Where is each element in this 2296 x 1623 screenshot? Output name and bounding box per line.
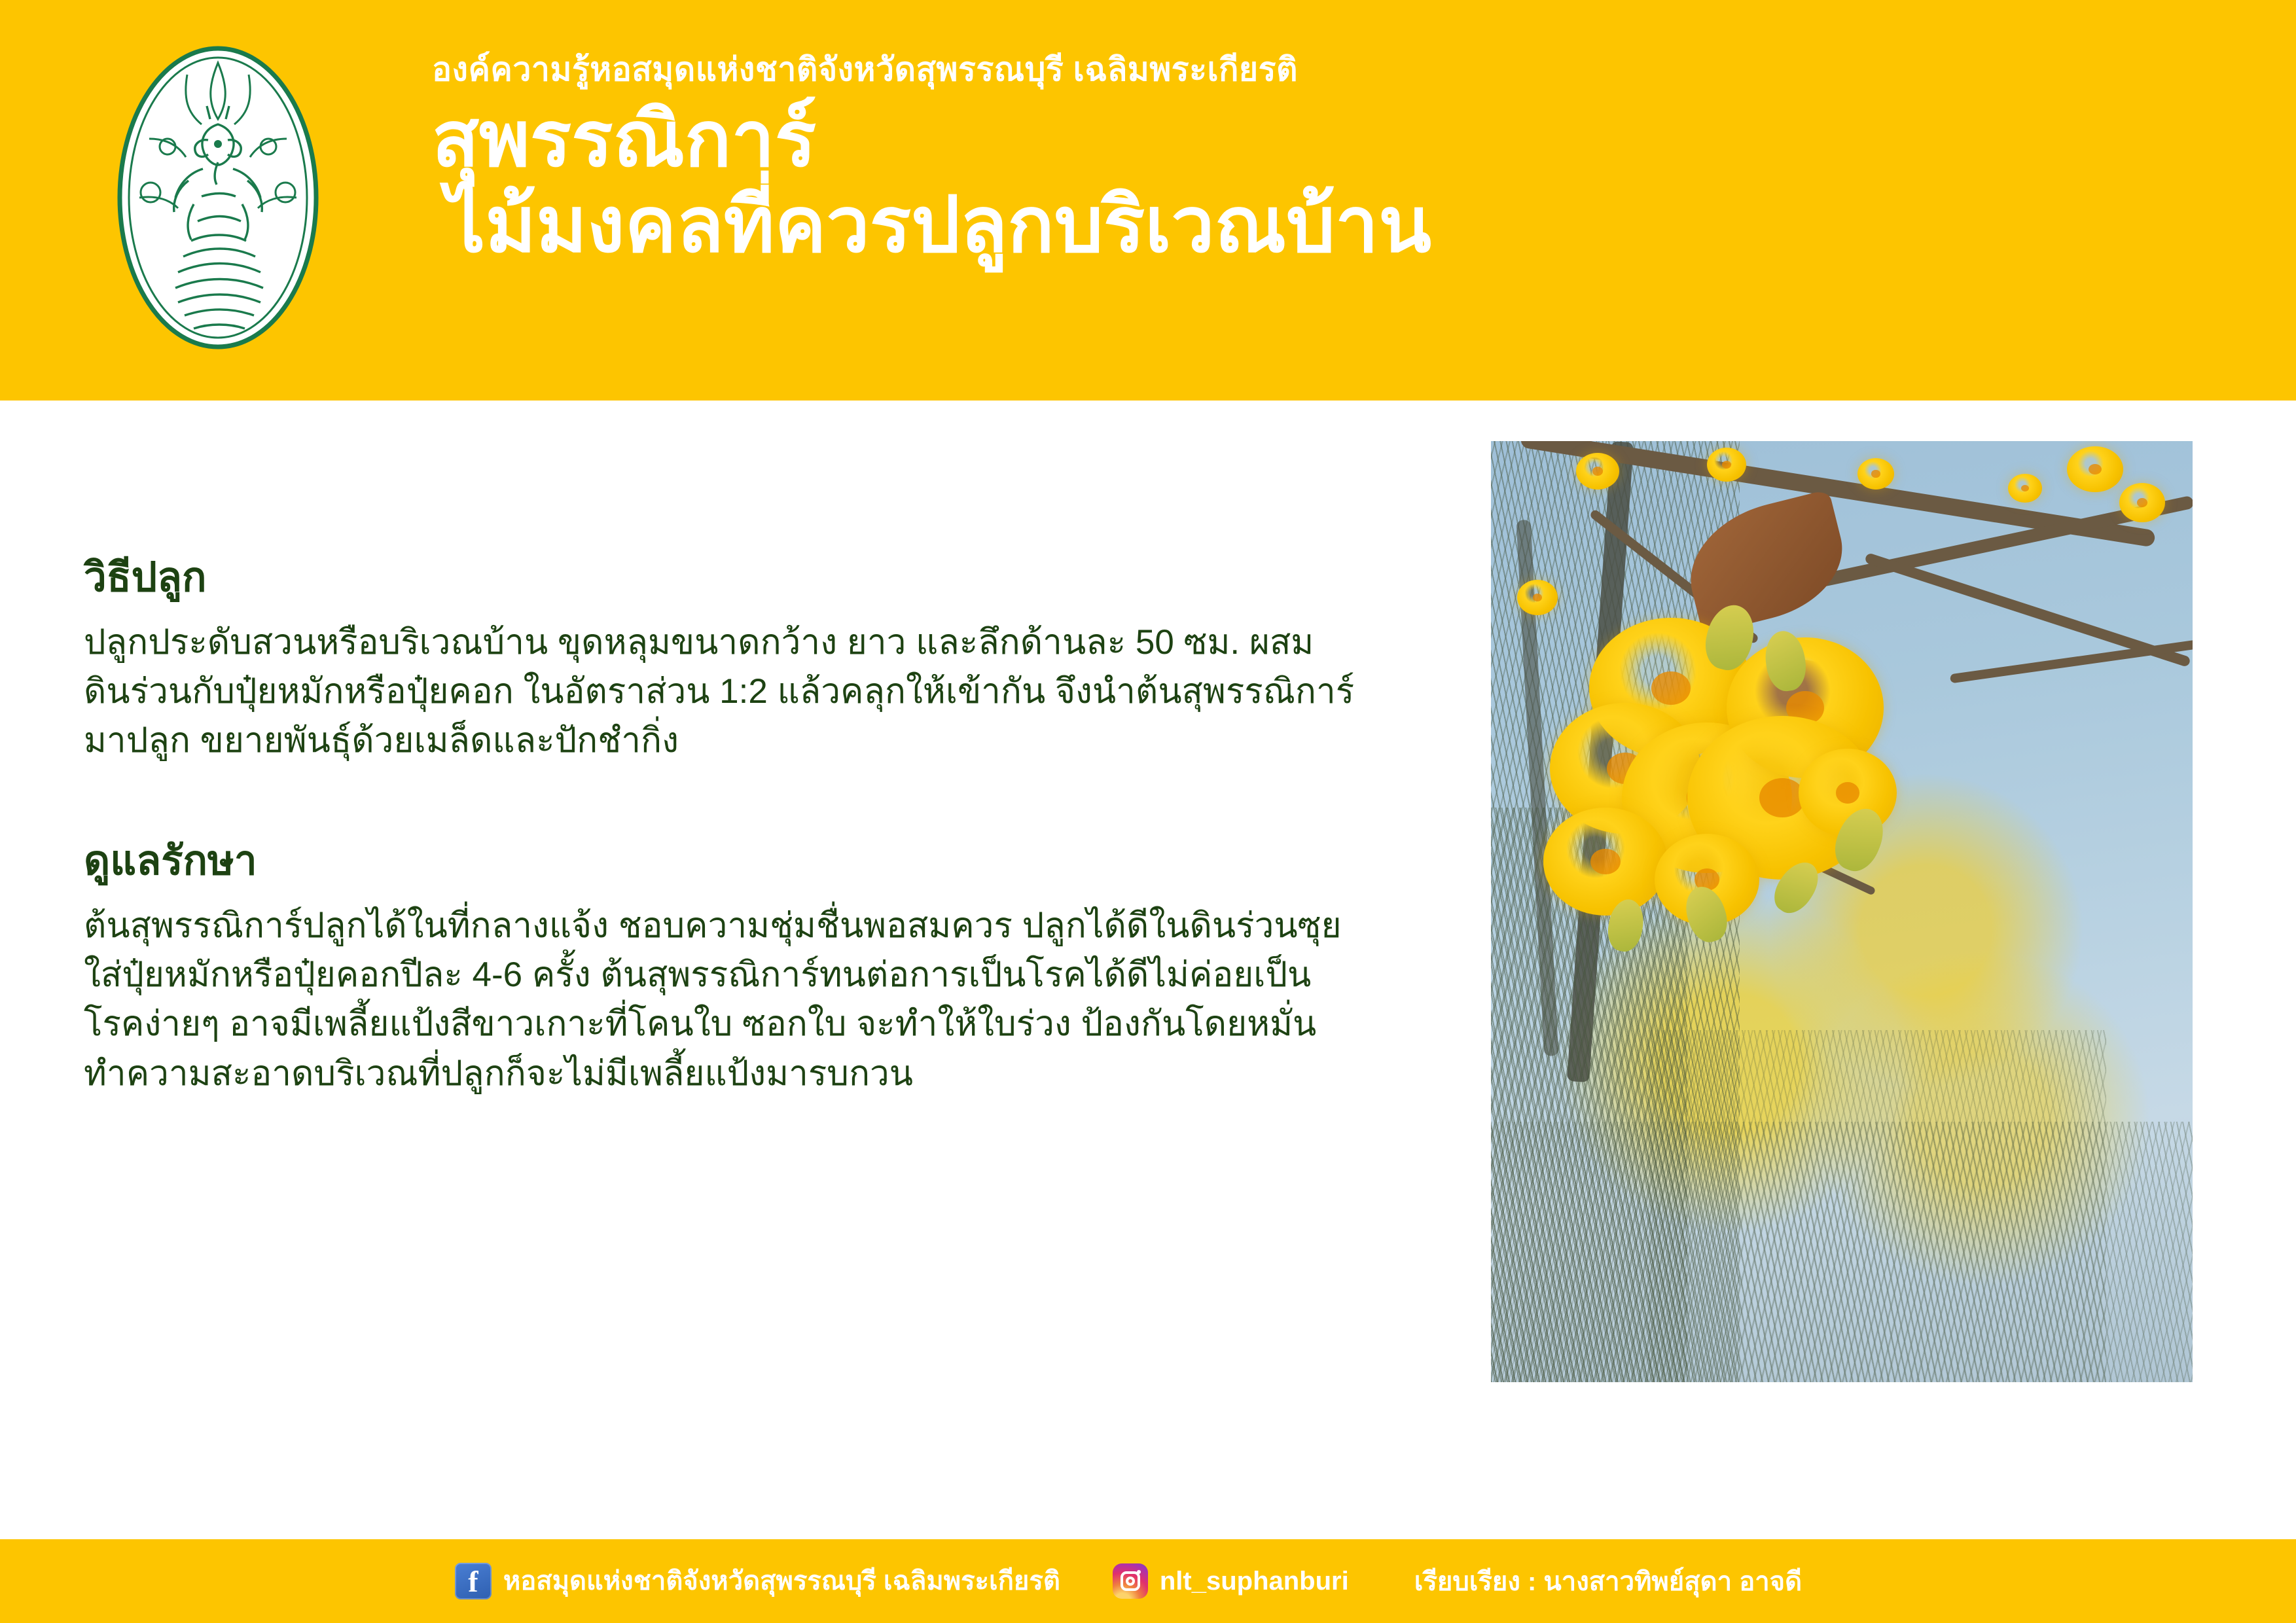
flower-photo	[1491, 441, 2193, 1382]
body-line: มาปลูก ขยายพันธุ์ด้วยเมล็ดและปักชำกิ่ง	[84, 716, 1445, 765]
instagram-link[interactable]: nlt_suphanburi	[1113, 1563, 1349, 1599]
poster-header: องค์ความรู้หอสมุดแห่งชาติจังหวัดสุพรรณบุ…	[0, 0, 2296, 401]
poster-body: วิธีปลูก ปลูกประดับสวนหรือบริเวณบ้าน ขุด…	[0, 401, 2296, 1539]
body-line: ดินร่วนกับปุ๋ยหมักหรือปุ๋ยคอก ในอัตราส่ว…	[84, 667, 1445, 716]
poster-title-line1: สุพรรณิการ์	[432, 98, 2199, 181]
poster-title-line2: ไม้มงคลที่ควรปลูกบริเวณบ้าน	[446, 184, 2199, 267]
body-line: ปลูกประดับสวนหรือบริเวณบ้าน ขุดหลุมขนาดก…	[84, 618, 1445, 667]
section-care: ดูแลรักษา ต้นสุพรรณิการ์ปลูกได้ในที่กลาง…	[84, 836, 1445, 1098]
content-column: วิธีปลูก ปลูกประดับสวนหรือบริเวณบ้าน ขุด…	[84, 552, 1445, 1098]
section-heading: วิธีปลูก	[84, 552, 1445, 603]
facebook-label: หอสมุดแห่งชาติจังหวัดสุพรรณบุรี เฉลิมพระ…	[503, 1568, 1060, 1594]
section-body: ปลูกประดับสวนหรือบริเวณบ้าน ขุดหลุมขนาดก…	[84, 618, 1445, 766]
section-spacer	[84, 765, 1445, 836]
section-heading: ดูแลรักษา	[84, 836, 1445, 887]
instagram-label: nlt_suphanburi	[1160, 1568, 1349, 1594]
facebook-icon: f	[455, 1563, 492, 1599]
poster-footer: f หอสมุดแห่งชาติจังหวัดสุพรรณบุรี เฉลิมพ…	[0, 1539, 2296, 1623]
credit-text: เรียบเรียง : นางสาวทิพย์สุดา อาจดี	[1414, 1560, 1802, 1602]
header-text-block: องค์ความรู้หอสมุดแห่งชาติจังหวัดสุพรรณบุ…	[432, 51, 2199, 267]
body-line: ใส่ปุ๋ยหมักหรือปุ๋ยคอกปีละ 4-6 ครั้ง ต้น…	[84, 950, 1445, 999]
instagram-icon	[1113, 1563, 1148, 1599]
facebook-link[interactable]: f หอสมุดแห่งชาติจังหวัดสุพรรณบุรี เฉลิมพ…	[455, 1563, 1060, 1599]
header-kicker: องค์ความรู้หอสมุดแห่งชาติจังหวัดสุพรรณบุ…	[432, 51, 2199, 89]
garuda-ganesha-seal-icon	[110, 41, 326, 355]
body-line: ต้นสุพรรณิการ์ปลูกได้ในที่กลางแจ้ง ชอบคว…	[84, 901, 1445, 950]
section-how-to-plant: วิธีปลูก ปลูกประดับสวนหรือบริเวณบ้าน ขุด…	[84, 552, 1445, 765]
body-line: ทำความสะอาดบริเวณที่ปลูกก็จะไม่มีเพลี้ยแ…	[84, 1049, 1445, 1098]
body-line: โรคง่ายๆ อาจมีเพลี้ยแป้งสีขาวเกาะที่โคนใ…	[84, 999, 1445, 1048]
poster-root: องค์ความรู้หอสมุดแห่งชาติจังหวัดสุพรรณบุ…	[0, 0, 2296, 1623]
section-body: ต้นสุพรรณิการ์ปลูกได้ในที่กลางแจ้ง ชอบคว…	[84, 901, 1445, 1098]
flower-photo-image	[1491, 441, 2193, 1382]
